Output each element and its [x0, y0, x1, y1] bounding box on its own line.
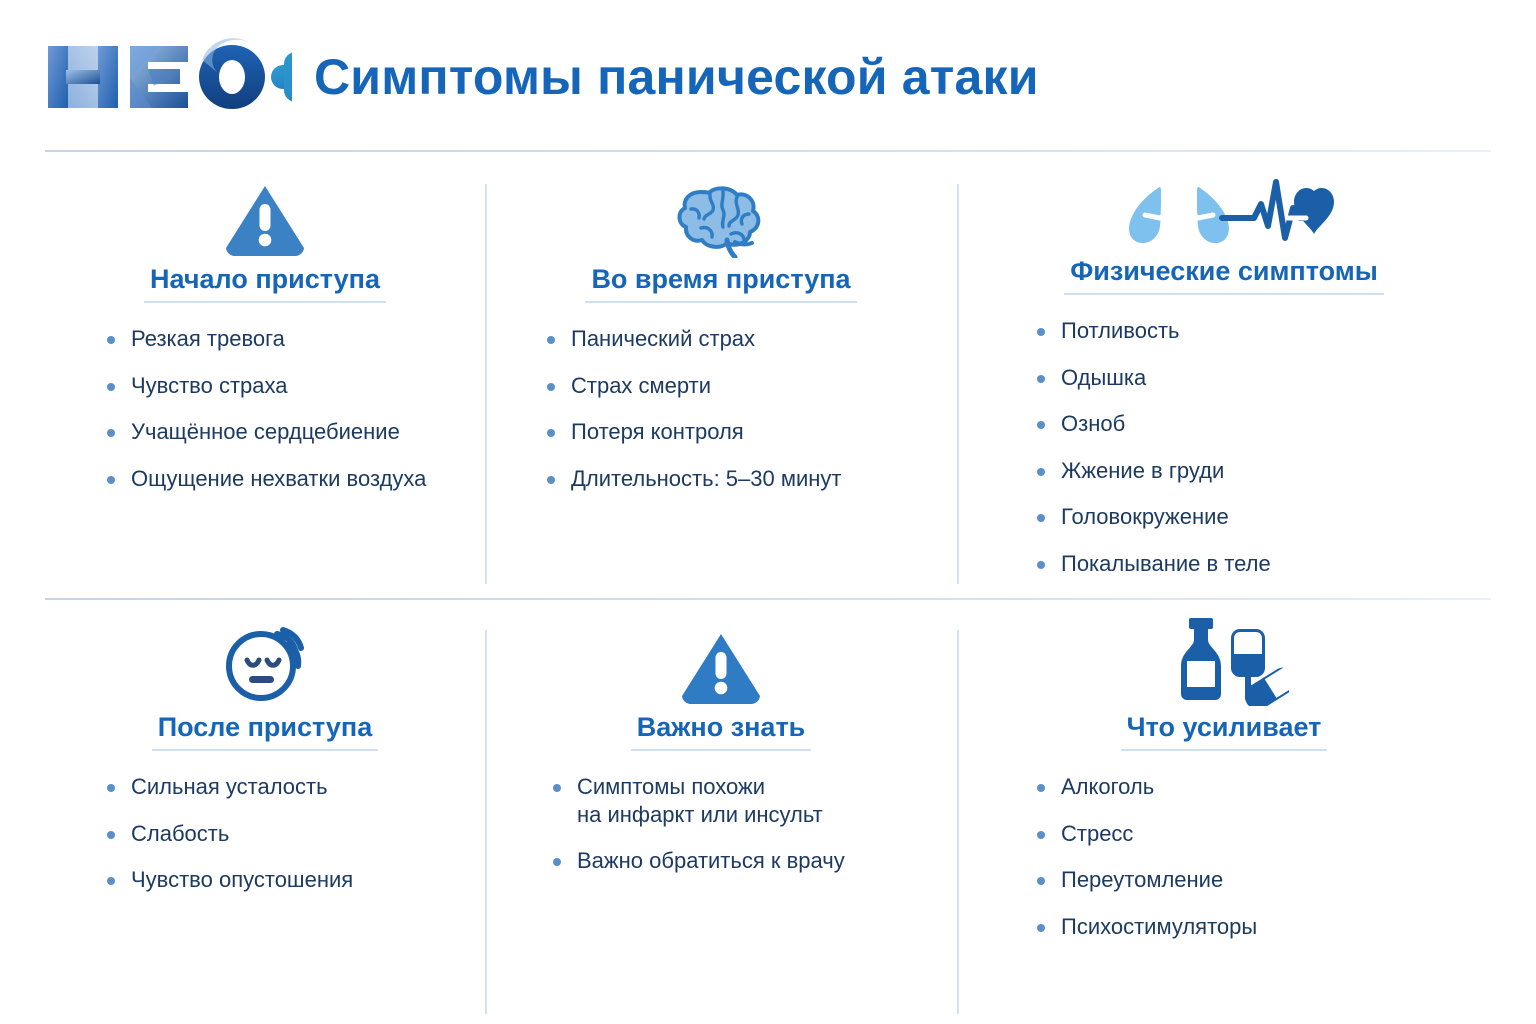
symptom-list: Резкая тревога Чувство страха Учащённое …: [105, 325, 426, 511]
symptom-list: Симптомы похожи на инфаркт или инсульт В…: [551, 773, 845, 894]
card-important-to-know: Важно знать Симптомы похожи на инфаркт и…: [485, 614, 957, 1014]
warning-triangle-icon: [678, 614, 764, 706]
list-item: Ощущение нехватки воздуха: [105, 465, 426, 493]
list-item: Переутомление: [1035, 866, 1257, 894]
list-item: Чувство опустошения: [105, 866, 353, 894]
list-item: Сильная усталость: [105, 773, 353, 801]
brain-icon: [671, 166, 771, 258]
list-item: Жжение в груди: [1035, 457, 1271, 485]
list-item: Озноб: [1035, 410, 1271, 438]
symptom-list: Потливость Одышка Озноб Жжение в груди Г…: [1035, 317, 1271, 596]
lungs-heartbeat-heart-icon: [1104, 166, 1344, 250]
cards-grid: Начало приступа Резкая тревога Чувство с…: [0, 152, 1536, 1024]
tired-face-icon: [219, 614, 311, 706]
card-title: Важно знать: [631, 712, 812, 751]
card-during-attack: Во время приступа Панический страх Страх…: [485, 166, 957, 596]
list-item: Слабость: [105, 820, 353, 848]
list-item: Головокружение: [1035, 503, 1271, 531]
page-header: Симптомы панической атаки: [0, 0, 1536, 150]
bottle-glass-pill-icon: [1159, 614, 1289, 706]
list-item: Покалывание в теле: [1035, 550, 1271, 578]
cards-row-top: Начало приступа Резкая тревога Чувство с…: [45, 166, 1491, 596]
list-item: Важно обратиться к врачу: [551, 847, 845, 875]
card-title: После приступа: [152, 712, 379, 751]
page-title: Симптомы панической атаки: [314, 52, 1039, 102]
list-item: Длительность: 5–30 минут: [545, 465, 842, 493]
cards-row-bottom: После приступа Сильная усталость Слабост…: [45, 614, 1491, 1014]
card-title: Во время приступа: [585, 264, 856, 303]
list-item: Потливость: [1035, 317, 1271, 345]
warning-triangle-icon: [222, 166, 308, 258]
list-item: Одышка: [1035, 364, 1271, 392]
list-item: Стресс: [1035, 820, 1257, 848]
card-title: Что усиливает: [1121, 712, 1328, 751]
list-item: Алкоголь: [1035, 773, 1257, 801]
neo-plus-logo: [42, 38, 292, 116]
card-physical-symptoms: Физические симптомы Потливость Одышка Оз…: [957, 166, 1491, 596]
symptom-list: Панический страх Страх смерти Потеря кон…: [545, 325, 842, 511]
card-title: Физические симптомы: [1064, 256, 1384, 295]
list-item: Резкая тревога: [105, 325, 426, 353]
list-item: Страх смерти: [545, 372, 842, 400]
list-item: Симптомы похожи на инфаркт или инсульт: [551, 773, 845, 828]
list-item: Учащённое сердцебиение: [105, 418, 426, 446]
card-title: Начало приступа: [144, 264, 386, 303]
card-attack-onset: Начало приступа Резкая тревога Чувство с…: [45, 166, 485, 596]
list-item: Панический страх: [545, 325, 842, 353]
row-divider: [45, 598, 1491, 600]
list-item: Потеря контроля: [545, 418, 842, 446]
symptom-list: Алкоголь Стресс Переутомление Психостиму…: [1035, 773, 1257, 959]
card-what-worsens: Что усиливает Алкоголь Стресс Переутомле…: [957, 614, 1491, 1014]
symptom-list: Сильная усталость Слабость Чувство опуст…: [105, 773, 353, 913]
list-item: Психостимуляторы: [1035, 913, 1257, 941]
list-item: Чувство страха: [105, 372, 426, 400]
card-after-attack: После приступа Сильная усталость Слабост…: [45, 614, 485, 1014]
